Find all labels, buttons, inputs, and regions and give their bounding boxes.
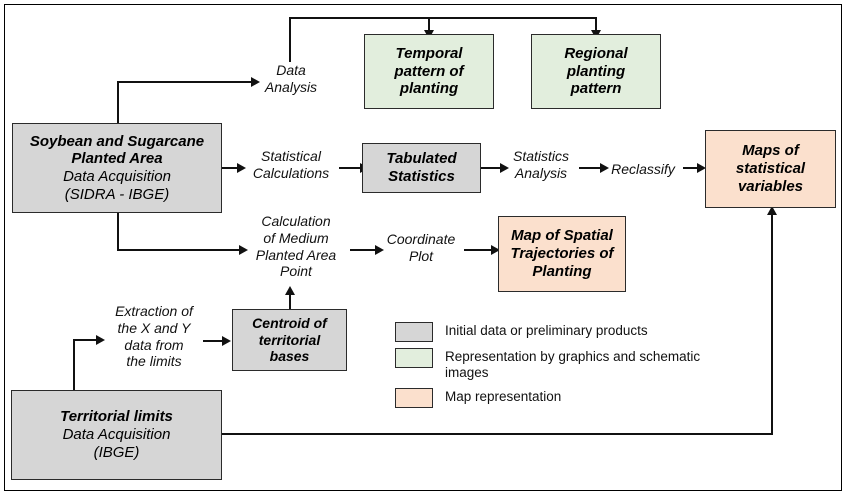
connector-statsanalysis-to-reclassify <box>579 167 601 169</box>
box-tabulated-line2: Statistics <box>363 168 480 186</box>
connector-soybean-to-data-analysis <box>117 81 252 83</box>
box-centroid-line2: territorial <box>233 332 346 349</box>
connector-territorial-bottom-bus <box>222 433 773 435</box>
box-tabulated-line1: Tabulated <box>363 150 480 168</box>
connector-tabulated-to-statsanalysis <box>481 167 501 169</box>
label-reclassify: Reclassify <box>601 161 685 178</box>
box-tabulated-statistics[interactable]: Tabulated Statistics <box>362 143 481 193</box>
label-statistics-analysis: Statistics Analysis <box>500 148 582 182</box>
box-regional-pattern[interactable]: Regional planting pattern <box>531 34 661 109</box>
box-centroid-line3: bases <box>233 348 346 365</box>
box-regional-line3: pattern <box>532 80 660 98</box>
box-temporal-line1: Temporal <box>365 45 493 63</box>
box-maps-line1: Maps of <box>706 142 835 160</box>
legend-item-initial-data: Initial data or preliminary products <box>395 322 785 342</box>
box-soybean-line4: (SIDRA - IBGE) <box>13 186 221 204</box>
label-coordinate-plot: Coordinate Plot <box>375 231 467 265</box>
connector-territorial-up <box>73 340 75 391</box>
box-territorial-line1: Territorial limits <box>12 408 221 426</box>
box-mapspatial-line2: Trajectories of <box>499 245 625 263</box>
label-extraction-xy: Extraction of the X and Y data from the … <box>100 303 208 370</box>
label-statistical-calculations: Statistical Calculations <box>243 148 339 182</box>
box-regional-line1: Regional <box>532 45 660 63</box>
legend-swatch-initial-data <box>395 322 433 342</box>
box-centroid-line1: Centroid of <box>233 315 346 332</box>
connector-soybean-to-medium-point <box>117 249 240 251</box>
box-territorial-limits[interactable]: Territorial limits Data Acquisition (IBG… <box>11 390 222 480</box>
legend-label-map-representation: Map representation <box>445 388 561 405</box>
legend-swatch-graphic-representation <box>395 348 433 368</box>
box-map-spatial-trajectories[interactable]: Map of Spatial Trajectories of Planting <box>498 216 626 292</box>
legend-item-graphic-representation: Representation by graphics and schematic… <box>395 348 785 382</box>
box-mapspatial-line3: Planting <box>499 263 625 281</box>
connector-data-analysis-up <box>289 18 291 62</box>
box-mapspatial-line1: Map of Spatial <box>499 227 625 245</box>
connector-territorial-to-extraction <box>73 339 97 341</box>
arrowhead-calculation-medium <box>285 286 295 295</box>
flowchart-canvas: Data Analysis Statistical Calculations S… <box>0 0 850 499</box>
box-soybean-line1: Soybean and Sugarcane <box>13 133 221 151</box>
arrowhead-centroid <box>222 336 231 346</box>
box-temporal-line2: pattern of <box>365 63 493 81</box>
legend: Initial data or preliminary products Rep… <box>395 322 785 414</box>
box-centroid-territorial-bases[interactable]: Centroid of territorial bases <box>232 309 347 371</box>
connector-coordinate-to-mapspatial <box>464 249 492 251</box>
connector-centroid-up <box>289 293 291 309</box>
connector-soybean-to-statistical-calculations <box>222 167 238 169</box>
box-regional-line2: planting <box>532 63 660 81</box>
box-temporal-pattern[interactable]: Temporal pattern of planting <box>364 34 494 109</box>
connector-top-bus <box>289 17 597 19</box>
box-maps-line3: variables <box>706 178 835 196</box>
box-soybean-line3: Data Acquisition <box>13 168 221 186</box>
label-data-analysis: Data Analysis <box>256 62 326 96</box>
box-territorial-line2: Data Acquisition <box>12 426 221 444</box>
connector-statcalc-to-tabulated <box>339 167 361 169</box>
legend-swatch-map-representation <box>395 388 433 408</box>
box-soybean-planted-area[interactable]: Soybean and Sugarcane Planted Area Data … <box>12 123 222 213</box>
label-calculation-medium-point: Calculation of Medium Planted Area Point <box>240 213 352 280</box>
box-soybean-line2: Planted Area <box>13 150 221 168</box>
legend-item-map-representation: Map representation <box>395 388 785 408</box>
box-maps-statistical-variables[interactable]: Maps of statistical variables <box>705 130 836 208</box>
box-territorial-line3: (IBGE) <box>12 444 221 462</box>
connector-medium-to-coordinate <box>350 249 376 251</box>
box-maps-line2: statistical <box>706 160 835 178</box>
box-temporal-line3: planting <box>365 80 493 98</box>
legend-label-initial-data: Initial data or preliminary products <box>445 322 648 339</box>
legend-label-graphic-representation: Representation by graphics and schematic… <box>445 348 745 382</box>
